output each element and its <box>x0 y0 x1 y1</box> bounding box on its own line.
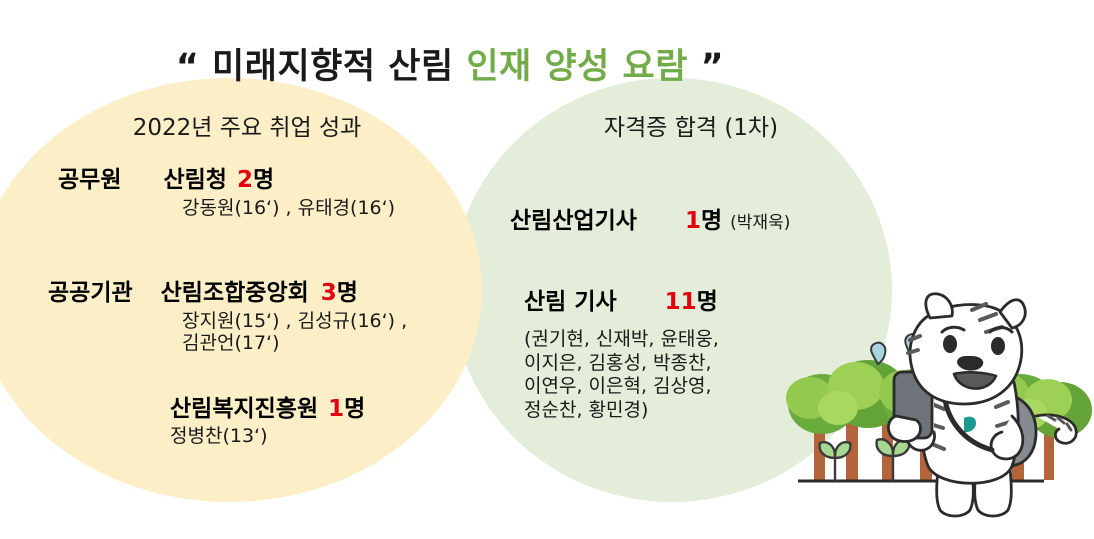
entry-public-institution-count: 3명 <box>321 273 358 307</box>
entry-public-institution-count-unit: 명 <box>337 280 358 306</box>
entry-public-servant-count-unit: 명 <box>253 167 274 193</box>
entry-forest-engineer-organization: 산림 기사 <box>524 282 617 316</box>
entry-forest-welfare: 산림복지진흥원 1명 정병찬(13‘) <box>170 389 365 447</box>
entry-public-servant-category: 공무원 <box>58 160 121 194</box>
entry-forest-industrial-engineer-paren-names: (박재욱) <box>730 208 790 233</box>
entry-forest-engineer-names: (권기현, 신재박, 윤태웅, 이지은, 김홍성, 박종찬, 이연우, 이은혁,… <box>524 328 719 422</box>
right-eye <box>991 337 1005 355</box>
title-green-part: 인재 양성 요람 <box>466 47 688 87</box>
entry-public-institution: 공공기관 산림조합중앙회 3명 장지원(15‘) , 김성규(16‘) , 김관… <box>48 273 407 355</box>
entry-forest-welfare-count-unit: 명 <box>344 396 365 422</box>
entry-public-institution-category: 공공기관 <box>48 273 133 307</box>
left-panel-heading: 2022년 주요 취업 성과 <box>10 108 460 142</box>
entry-forest-engineer-count: 11명 <box>665 282 718 316</box>
entry-forest-industrial-engineer-count-unit: 명 <box>701 208 722 234</box>
page-title: “ 미래지향적 산림 인재 양성 요람 ” <box>0 38 900 89</box>
entry-public-servant-count: 2명 <box>237 160 274 194</box>
entry-forest-engineer: 산림 기사 11명 (권기현, 신재박, 윤태웅, 이지은, 김홍성, 박종찬,… <box>524 282 719 422</box>
entry-forest-engineer-count-unit: 명 <box>697 289 718 315</box>
entry-forest-industrial-engineer-organization: 산림산업기사 <box>510 201 637 235</box>
entry-public-servant-organization: 산림청 <box>163 160 226 194</box>
entry-public-servant-count-number: 2 <box>237 167 253 193</box>
entry-public-servant-line: 공무원 산림청 2명 <box>58 160 395 194</box>
left-panel-employment: 2022년 주요 취업 성과 공무원 산림청 2명 강동원(16‘) , 유태경… <box>10 108 460 142</box>
entry-public-institution-line: 공공기관 산림조합중앙회 3명 <box>48 273 407 307</box>
entry-forest-welfare-organization: 산림복지진흥원 <box>170 389 318 423</box>
entry-forest-industrial-engineer-count: 1명 <box>685 201 722 235</box>
entry-public-servant: 공무원 산림청 2명 강동원(16‘) , 유태경(16‘) <box>58 160 395 219</box>
entry-forest-engineer-count-number: 11 <box>665 289 697 315</box>
entry-public-institution-names: 장지원(15‘) , 김성규(16‘) , 김관언(17‘) <box>182 310 407 355</box>
entry-public-servant-names: 강동원(16‘) , 유태경(16‘) <box>182 197 395 219</box>
entry-forest-welfare-line: 산림복지진흥원 1명 <box>170 389 365 423</box>
left-eye <box>943 335 957 353</box>
title-open-quote: “ <box>176 47 200 87</box>
entry-forest-industrial-engineer: 산림산업기사 1명 (박재욱) <box>510 201 790 235</box>
entry-forest-welfare-count: 1명 <box>328 389 365 423</box>
entry-forest-welfare-names: 정병찬(13‘) <box>170 425 365 447</box>
infographic-page: “ 미래지향적 산림 인재 양성 요람 ” 2022년 주요 취업 성과 공무원… <box>0 0 1094 539</box>
right-panel-heading: 자격증 합격 (1차) <box>492 108 882 142</box>
right-panel-certification: 자격증 합격 (1차) 산림산업기사 1명 (박재욱) 산림 기사 11명 (권… <box>492 108 882 142</box>
entry-forest-engineer-line: 산림 기사 11명 <box>524 282 719 316</box>
entry-public-institution-count-number: 3 <box>321 280 337 306</box>
entry-forest-welfare-count-number: 1 <box>328 396 344 422</box>
title-dark-part: 미래지향적 산림 <box>199 47 466 87</box>
entry-forest-industrial-engineer-line: 산림산업기사 1명 (박재욱) <box>510 201 790 235</box>
white-tiger-mascot-illustration <box>786 276 1094 539</box>
title-close-quote: ” <box>688 47 724 87</box>
entry-forest-industrial-engineer-count-number: 1 <box>685 208 701 234</box>
entry-public-institution-organization: 산림조합중앙회 <box>161 273 309 307</box>
